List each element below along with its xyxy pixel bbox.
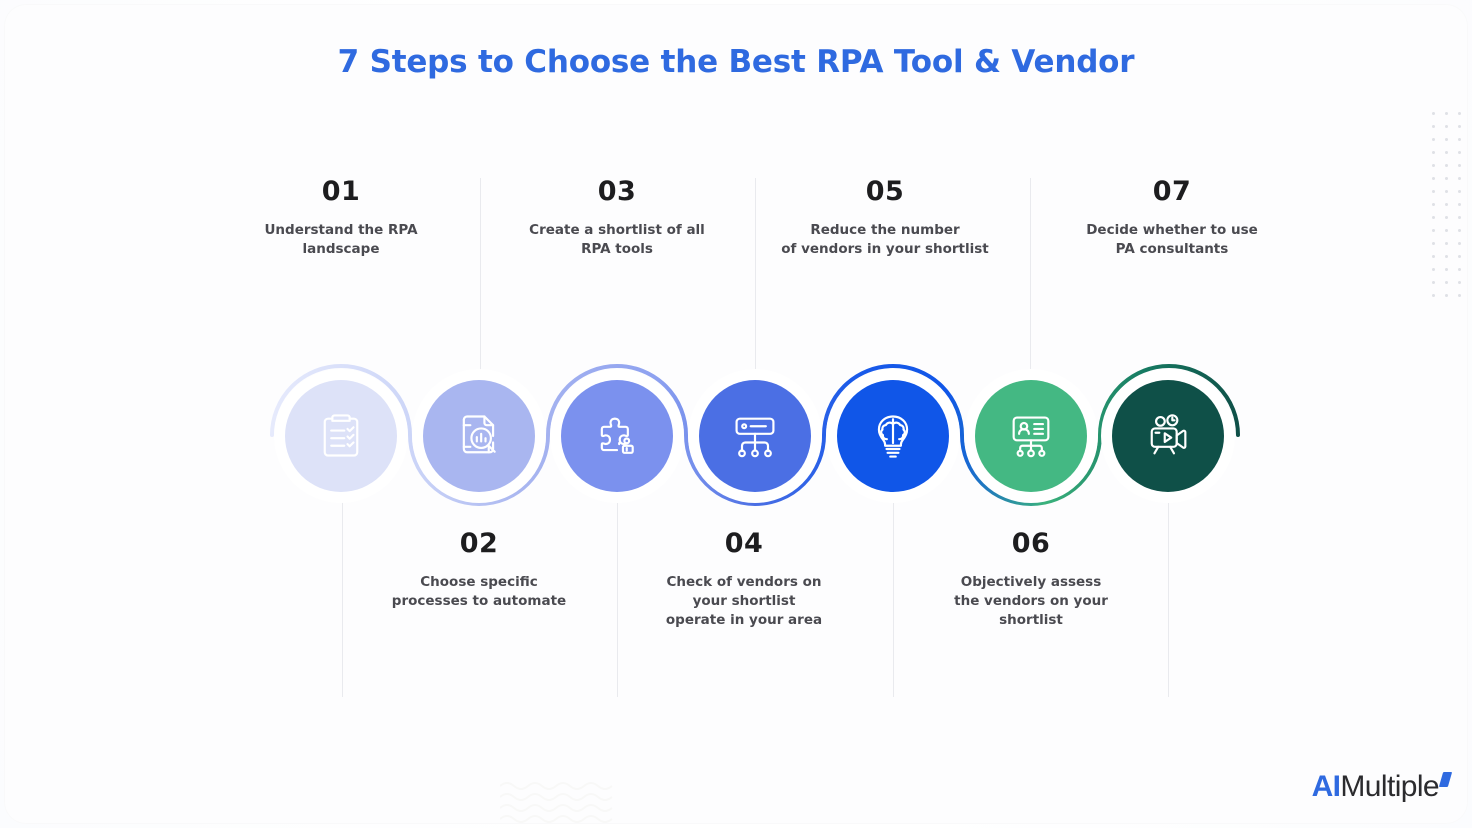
brand-logo-multiple: Multiple [1340,770,1439,804]
puzzle-piece-icon [591,410,643,462]
step-circle-03[interactable] [561,380,673,492]
step-description: Decide whether to use PA consultants [1022,221,1322,259]
infographic-canvas: 7 Steps to Choose the Best RPA Tool & Ve… [0,0,1472,828]
step-circle-02[interactable] [423,380,535,492]
server-network-icon [729,410,781,462]
step-description: Objectively assess the vendors on your s… [881,573,1181,630]
step-label-07: 07Decide whether to use PA consultants [1022,178,1322,259]
clipboard-checklist-icon [315,410,367,462]
document-analysis-icon [453,410,505,462]
video-camera-icon [1142,410,1194,462]
brand-logo: AIMultiple [1312,770,1450,804]
step-label-03: 03Create a shortlist of all RPA tools [467,178,767,259]
brand-logo-ai: AI [1312,770,1341,804]
brand-logo-accent-mark [1439,772,1452,787]
step-circle-06[interactable] [975,380,1087,492]
step-circle-04[interactable] [699,380,811,492]
step-label-06: 06Objectively assess the vendors on your… [881,530,1181,630]
dot-grid-decoration [1432,112,1472,302]
step-label-05: 05Reduce the number of vendors in your s… [735,178,1035,259]
step-number: 05 [735,178,1035,205]
step-label-02: 02Choose specific processes to automate [329,530,629,611]
step-number: 06 [881,530,1181,557]
page-title: 7 Steps to Choose the Best RPA Tool & Ve… [0,44,1472,80]
step-description: Understand the RPA landscape [191,221,491,259]
step-description: Reduce the number of vendors in your sho… [735,221,1035,259]
id-card-network-icon [1005,410,1057,462]
wave-pattern-watermark [500,778,620,824]
step-circle-05[interactable] [837,380,949,492]
step-circle-01[interactable] [285,380,397,492]
step-description: Choose specific processes to automate [329,573,629,611]
step-circle-07[interactable] [1112,380,1224,492]
brain-bulb-icon [867,410,919,462]
step-description: Create a shortlist of all RPA tools [467,221,767,259]
step-description: Check of vendors on your shortlist opera… [594,573,894,630]
step-number: 04 [594,530,894,557]
step-number: 02 [329,530,629,557]
step-number: 07 [1022,178,1322,205]
step-label-04: 04Check of vendors on your shortlist ope… [594,530,894,630]
step-label-01: 01Understand the RPA landscape [191,178,491,259]
step-number: 03 [467,178,767,205]
step-number: 01 [191,178,491,205]
